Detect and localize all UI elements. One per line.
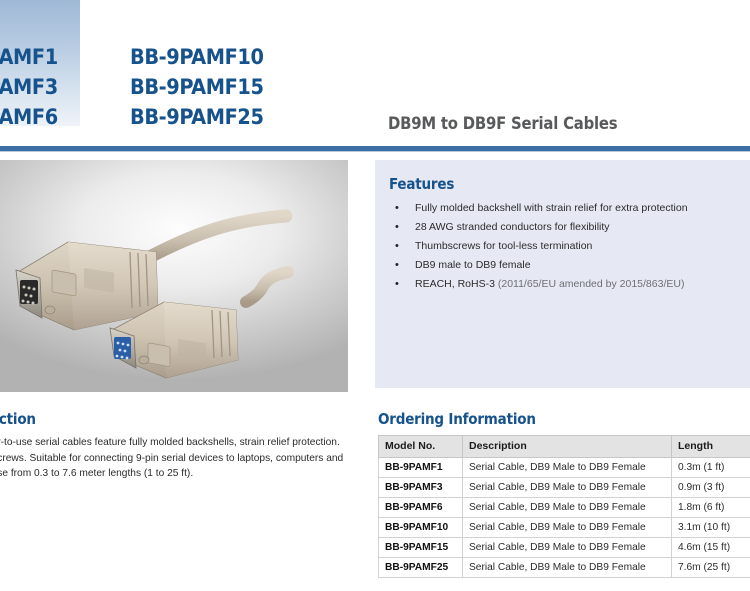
feature-text: REACH, RoHS-3 (415, 278, 498, 290)
page-header: -9PAMF1 -9PAMF3 -9PAMF6 BB-9PAMF10 BB-9P… (0, 0, 750, 152)
table-header-row: Model No. Description Length (379, 436, 750, 458)
feature-text: DB9 male to DB9 female (415, 259, 531, 271)
table-row: BB-9PAMF10 Serial Cable, DB9 Male to DB9… (379, 518, 750, 538)
features-panel: Features •Fully molded backshell with st… (375, 160, 750, 388)
feature-text: 28 AWG stranded conductors for flexibili… (415, 221, 610, 233)
model-number: BB-9PAMF15 (130, 73, 264, 103)
feature-item: •DB9 male to DB9 female (389, 256, 739, 275)
column-header-description: Description (463, 436, 672, 458)
cell-description: Serial Cable, DB9 Male to DB9 Female (463, 478, 672, 498)
ordering-table: Model No. Description Length BB-9PAMF1 S… (378, 435, 750, 578)
features-list: •Fully molded backshell with strain reli… (389, 199, 739, 294)
feature-note: (2011/65/EU amended by 2015/863/EU) (498, 278, 685, 290)
page-title: DB9M to DB9F Serial Cables (388, 114, 617, 133)
cell-description: Serial Cable, DB9 Male to DB9 Female (463, 498, 672, 518)
model-number: -9PAMF1 (0, 43, 58, 73)
product-image (0, 160, 348, 392)
cell-length: 1.8m (6 ft) (672, 498, 750, 518)
ordering-information-section: Ordering Information Model No. Descripti… (378, 410, 750, 578)
cell-description: Serial Cable, DB9 Male to DB9 Female (463, 518, 672, 538)
cell-length: 4.6m (15 ft) (672, 538, 750, 558)
introduction-body: These ready-to-use serial cables feature… (0, 435, 356, 482)
bullet-icon: • (395, 218, 399, 237)
model-number-column-right: BB-9PAMF10 BB-9PAMF15 BB-9PAMF25 (130, 43, 264, 133)
cell-description: Serial Cable, DB9 Male to DB9 Female (463, 458, 672, 478)
column-header-length: Length (672, 436, 750, 458)
table-row: BB-9PAMF15 Serial Cable, DB9 Male to DB9… (379, 538, 750, 558)
cell-description: Serial Cable, DB9 Male to DB9 Female (463, 558, 672, 578)
serial-cable-illustration (0, 160, 348, 392)
model-number: BB-9PAMF25 (130, 103, 264, 133)
model-number-column-left: -9PAMF1 -9PAMF3 -9PAMF6 (0, 43, 58, 133)
cell-length: 7.6m (25 ft) (672, 558, 750, 578)
feature-item: •28 AWG stranded conductors for flexibil… (389, 218, 739, 237)
table-row: BB-9PAMF6 Serial Cable, DB9 Male to DB9 … (379, 498, 750, 518)
cell-model: BB-9PAMF3 (379, 478, 463, 498)
cell-description: Serial Cable, DB9 Male to DB9 Female (463, 538, 672, 558)
bullet-icon: • (395, 199, 399, 218)
column-header-model: Model No. (379, 436, 463, 458)
feature-item: •Thumbscrews for tool-less termination (389, 237, 739, 256)
cell-model: BB-9PAMF1 (379, 458, 463, 478)
feature-item: •REACH, RoHS-3 (2011/65/EU amended by 20… (389, 275, 739, 294)
table-row: BB-9PAMF25 Serial Cable, DB9 Male to DB9… (379, 558, 750, 578)
model-number: -9PAMF3 (0, 73, 58, 103)
cell-model: BB-9PAMF15 (379, 538, 463, 558)
header-divider-shadow (0, 151, 750, 152)
bullet-icon: • (395, 256, 399, 275)
cell-model: BB-9PAMF6 (379, 498, 463, 518)
feature-text: Thumbscrews for tool-less termination (415, 240, 592, 252)
model-number: -9PAMF6 (0, 103, 58, 133)
features-heading: Features (389, 175, 454, 193)
model-number: BB-9PAMF10 (130, 43, 264, 73)
cell-length: 0.3m (1 ft) (672, 458, 750, 478)
table-row: BB-9PAMF1 Serial Cable, DB9 Male to DB9 … (379, 458, 750, 478)
cell-length: 0.9m (3 ft) (672, 478, 750, 498)
bullet-icon: • (395, 275, 399, 294)
ordering-information-heading: Ordering Information (378, 410, 750, 428)
cell-length: 3.1m (10 ft) (672, 518, 750, 538)
feature-text: Fully molded backshell with strain relie… (415, 202, 688, 214)
table-row: BB-9PAMF3 Serial Cable, DB9 Male to DB9 … (379, 478, 750, 498)
cell-model: BB-9PAMF25 (379, 558, 463, 578)
bullet-icon: • (395, 237, 399, 256)
introduction-heading: Introduction (0, 410, 356, 428)
introduction-section: Introduction These ready-to-use serial c… (0, 410, 356, 482)
cell-model: BB-9PAMF10 (379, 518, 463, 538)
feature-item: •Fully molded backshell with strain reli… (389, 199, 739, 218)
